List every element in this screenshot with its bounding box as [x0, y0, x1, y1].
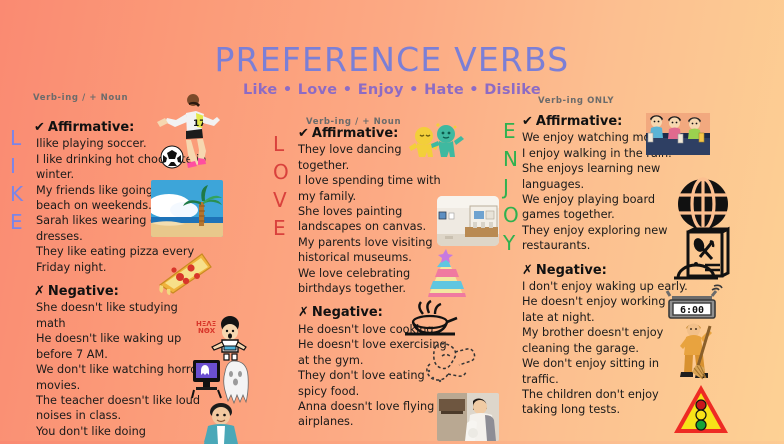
- example-sentence: My brother doesn't enjoy cleaning the ga…: [522, 325, 690, 356]
- acronym-letter: E: [10, 208, 23, 236]
- pizza-slice-illustration: [156, 252, 214, 296]
- teacher-person-illustration: [198, 404, 246, 444]
- cooking-pan-illustration: [403, 300, 457, 342]
- svg-text:ΝΘΧ: ΝΘΧ: [198, 327, 216, 335]
- example-sentence: You don't like doing: [36, 424, 210, 439]
- example-sentence: The children don't enjoy taking long tes…: [522, 387, 690, 418]
- example-sentence: They enjoy exploring new restaurants.: [522, 223, 690, 254]
- check-icon: ✔: [522, 114, 533, 129]
- example-sentence: He doesn't like waking up before 7 AM.: [36, 331, 210, 362]
- acronym-letter: I: [10, 152, 23, 180]
- traffic-light-warning-sign-icon: [672, 383, 730, 437]
- example-sentence: She doesn't like studying math: [36, 300, 210, 331]
- acronym-love: L O V E: [273, 130, 289, 242]
- example-sentence: She enjoys learning new languages.: [522, 161, 690, 192]
- museum-gallery-photo: [437, 196, 499, 246]
- acronym-enjoy: E N J O Y: [503, 117, 519, 257]
- text-block-enjoy: ✔Affirmative: We enjoy watching movies. …: [522, 114, 690, 418]
- example-sentence: The teacher doesn't like loud noises in …: [36, 393, 210, 424]
- example-sentence: I love spending time with my family.: [298, 173, 450, 204]
- alarm-time: 6:00: [680, 305, 704, 316]
- acronym-letter: J: [503, 173, 519, 201]
- sweeping-person-illustration: [674, 320, 726, 382]
- example-sentence: I don't enjoy waking up early.: [522, 279, 690, 294]
- party-hat-illustration: [424, 247, 470, 303]
- cross-icon: ✗: [34, 284, 45, 299]
- example-sentence: He doesn't enjoy working late at night.: [522, 294, 690, 325]
- page-title: PREFERENCE VERBS: [0, 40, 784, 79]
- frustrated-math-student-illustration: ΗΞΛΞ ΝΘΧ: [196, 318, 244, 360]
- pattern-label-enjoy: Verb-ing ONLY: [538, 96, 614, 106]
- cross-icon: ✗: [298, 305, 309, 320]
- acronym-letter: V: [273, 186, 289, 214]
- acronym-letter: E: [503, 117, 519, 145]
- cinema-audience-illustration: [646, 113, 710, 155]
- globe-icon: [676, 177, 730, 231]
- beach-palm-photo: [151, 180, 223, 237]
- acronym-letter: O: [273, 158, 289, 186]
- acronym-letter: Y: [503, 229, 519, 257]
- tv-with-ghost-illustration: [192, 358, 254, 410]
- pattern-label-like: Verb-ing / + Noun: [33, 93, 128, 103]
- acronym-letter: E: [273, 214, 289, 242]
- soccer-player-illustration: 17: [153, 100, 223, 172]
- acronym-like: L I K E: [10, 124, 23, 236]
- negative-heading: ✗Negative:: [522, 263, 690, 278]
- check-icon: ✔: [34, 120, 45, 135]
- example-sentence: We don't like watching horror movies.: [36, 362, 210, 393]
- check-icon: ✔: [298, 126, 309, 141]
- example-sentence: We don't enjoy sitting in traffic.: [522, 356, 690, 387]
- spicy-food-photo: [437, 393, 499, 441]
- acronym-letter: L: [273, 130, 289, 158]
- cross-icon: ✗: [522, 263, 533, 278]
- acronym-letter: K: [10, 180, 23, 208]
- dancing-couple-illustration: [408, 123, 464, 171]
- restaurant-menu-icon: [672, 228, 736, 288]
- acronym-letter: N: [503, 145, 519, 173]
- example-sentence: We enjoy playing board games together.: [522, 192, 690, 223]
- acronym-letter: L: [10, 124, 23, 152]
- dumbbell-illustration: [422, 340, 480, 388]
- acronym-letter: O: [503, 201, 519, 229]
- example-sentence: Anna doesn't love flying in airplanes.: [298, 399, 450, 430]
- slide-canvas: PREFERENCE VERBS Like • Love • Enjoy • H…: [0, 0, 784, 441]
- example-sentence: She loves painting landscapes on canvas.: [298, 204, 450, 235]
